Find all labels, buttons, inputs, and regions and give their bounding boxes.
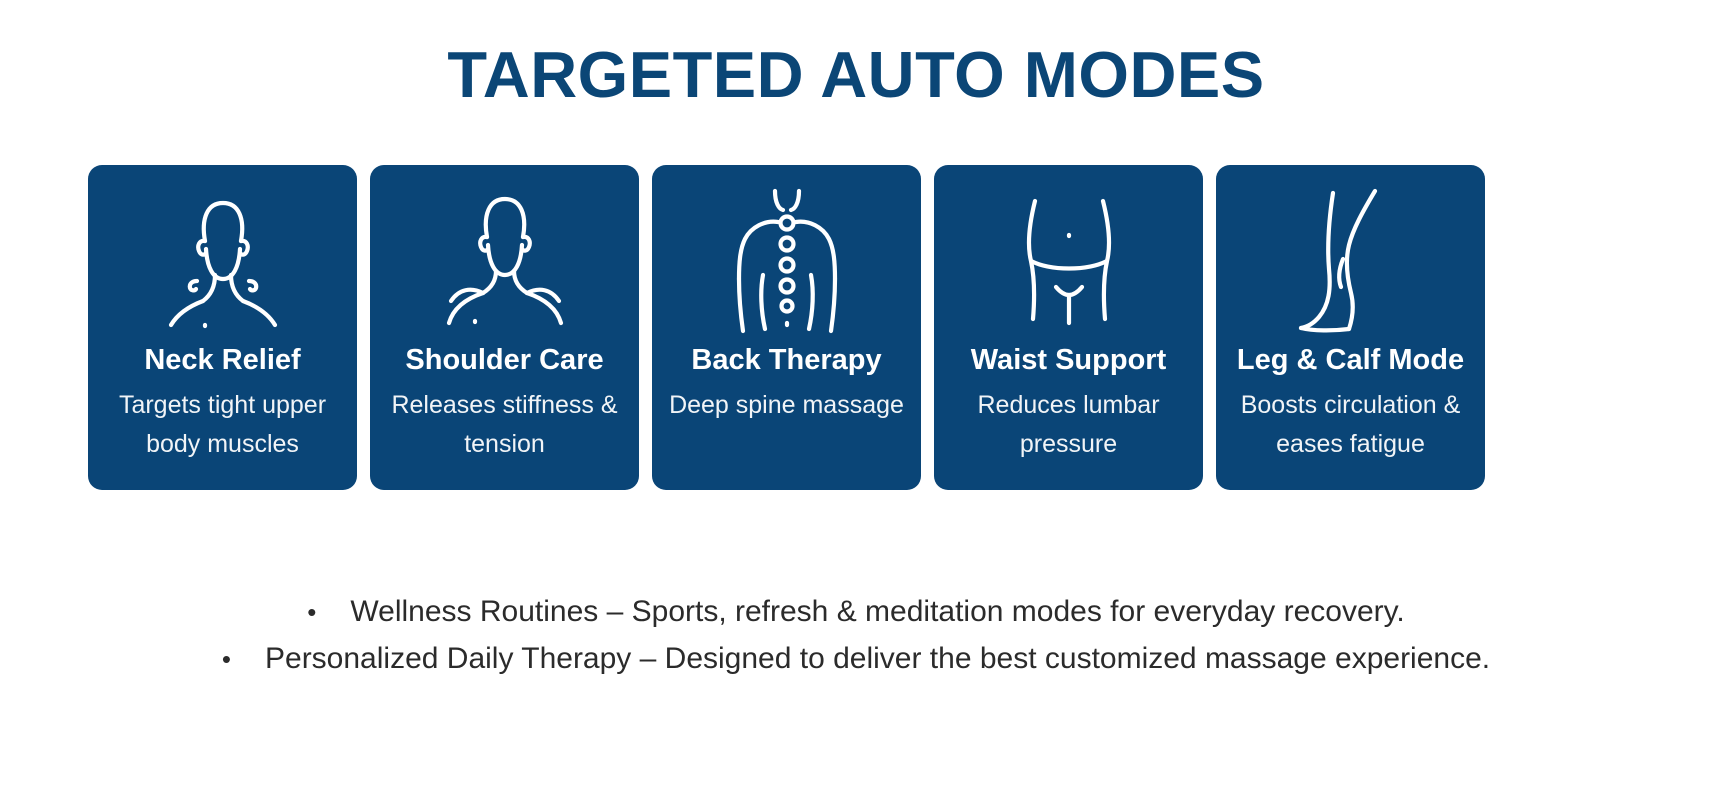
leg-calf-icon <box>1271 183 1431 335</box>
mode-card-leg-calf[interactable]: Leg & Calf Mode Boosts circulation & eas… <box>1216 165 1485 490</box>
bullet-text: Personalized Daily Therapy – Designed to… <box>265 636 1490 682</box>
waist-hip-icon <box>989 183 1149 335</box>
mode-card-description: Targets tight upper body muscles <box>88 386 357 464</box>
bullet-marker-icon: • <box>222 636 231 682</box>
neck-head-shoulders-icon <box>143 183 303 335</box>
back-spine-icon <box>707 183 867 335</box>
list-item: •Wellness Routines – Sports, refresh & m… <box>0 588 1712 635</box>
mode-card-back-therapy[interactable]: Back Therapy Deep spine massage <box>652 165 921 490</box>
list-item: •Personalized Daily Therapy – Designed t… <box>0 635 1712 682</box>
shoulder-torso-icon <box>425 183 585 335</box>
mode-card-title: Waist Support <box>971 343 1166 377</box>
mode-card-description: Releases stiffness & tension <box>370 386 639 464</box>
page-title: TARGETED AUTO MODES <box>0 36 1712 114</box>
mode-card-title: Neck Relief <box>144 343 300 377</box>
mode-card-title: Leg & Calf Mode <box>1237 343 1464 377</box>
feature-bullet-list: •Wellness Routines – Sports, refresh & m… <box>0 588 1712 682</box>
mode-card-list: Neck Relief Targets tight upper body mus… <box>88 165 1640 490</box>
bullet-text: Wellness Routines – Sports, refresh & me… <box>350 589 1404 635</box>
mode-card-neck-relief[interactable]: Neck Relief Targets tight upper body mus… <box>88 165 357 490</box>
mode-card-description: Reduces lumbar pressure <box>934 386 1203 464</box>
mode-card-description: Deep spine massage <box>659 386 914 425</box>
mode-card-shoulder-care[interactable]: Shoulder Care Releases stiffness & tensi… <box>370 165 639 490</box>
mode-card-description: Boosts circulation & eases fatigue <box>1216 386 1485 464</box>
mode-card-title: Back Therapy <box>691 343 881 377</box>
mode-card-title: Shoulder Care <box>405 343 603 377</box>
slide-root: TARGETED AUTO MODES Neck R <box>0 0 1712 800</box>
mode-card-waist-support[interactable]: Waist Support Reduces lumbar pressure <box>934 165 1203 490</box>
bullet-marker-icon: • <box>307 589 316 635</box>
